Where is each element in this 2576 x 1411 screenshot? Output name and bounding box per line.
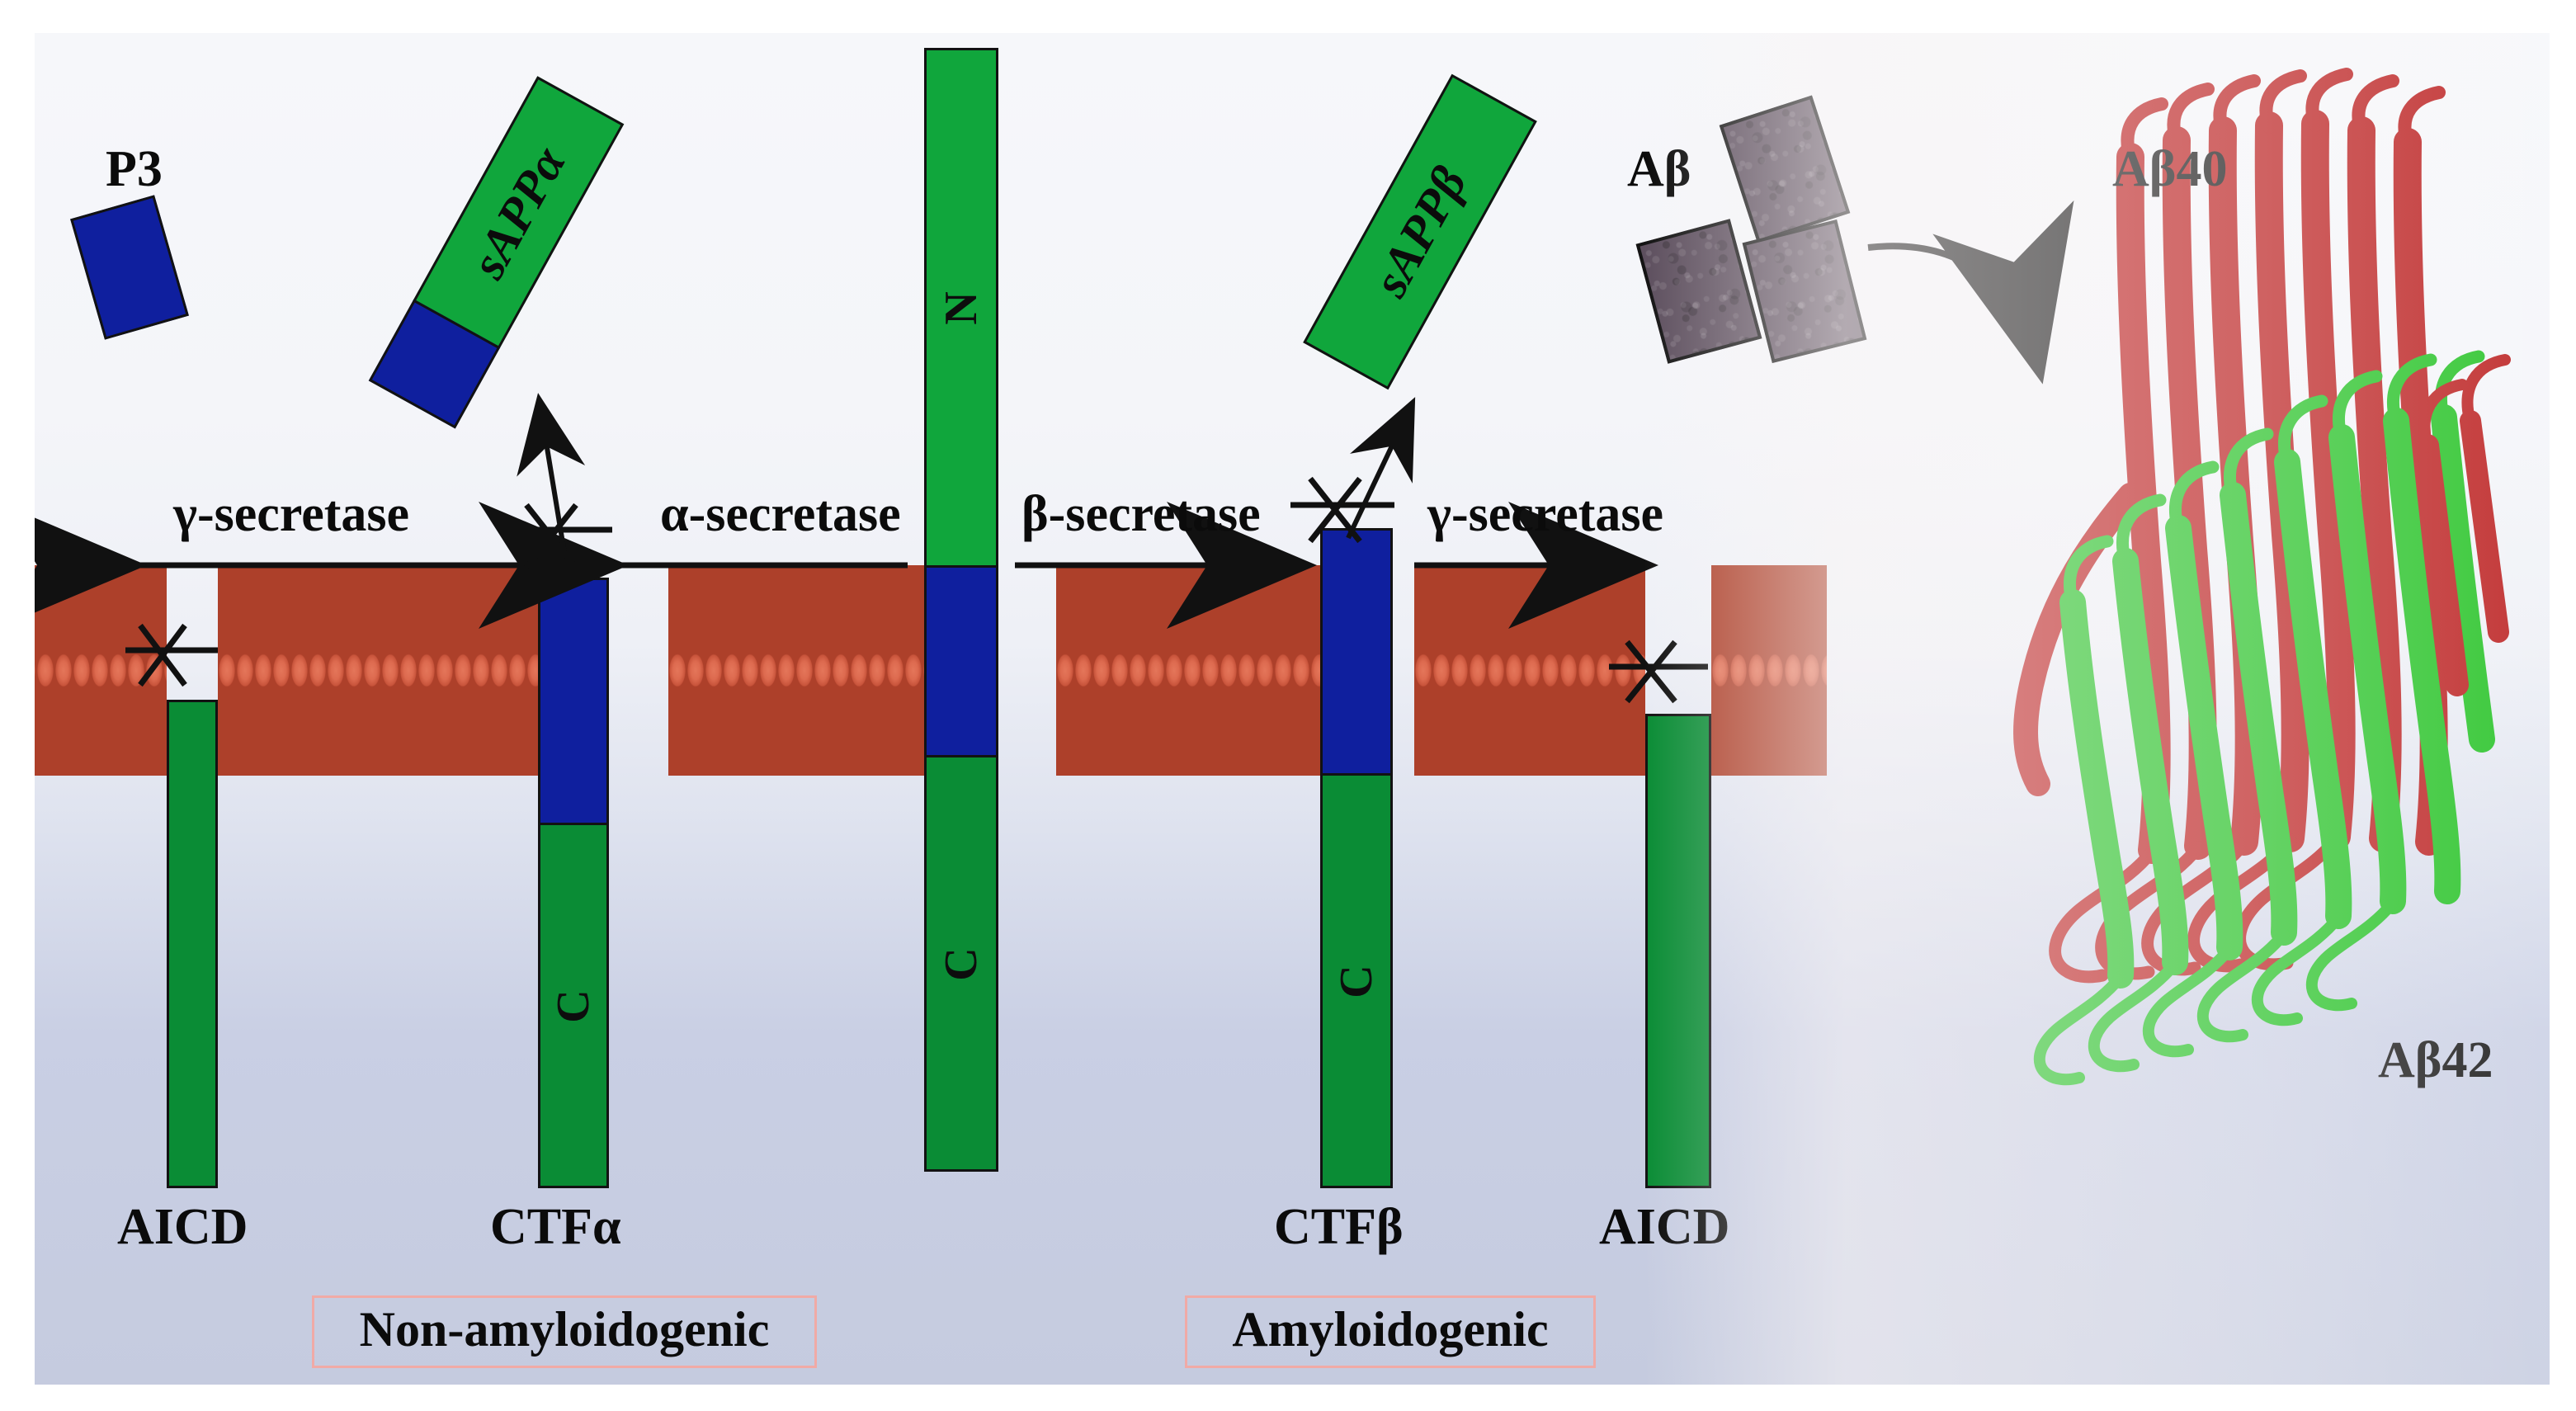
cut-mark-ctf-alpha: [507, 505, 612, 568]
sappb-pointer-arrow: [1348, 406, 1411, 538]
plaque-to-fibril-arrow: [1868, 246, 2040, 371]
ctf-alpha-c-terminus-label: C: [547, 989, 600, 1022]
sappa-pointer-arrow: [540, 403, 564, 553]
ctf-beta-c-terminus-label: C: [1330, 964, 1383, 998]
app-cytoplasmic-bar: C: [924, 755, 998, 1172]
p3-label: P3: [106, 140, 163, 199]
ab40-label: Aβ40: [2112, 140, 2227, 199]
ctf-beta-label: CTFβ: [1274, 1198, 1404, 1257]
aicd-left-bar: [167, 700, 218, 1188]
lipid-bilayer-segment-2: [218, 565, 538, 776]
sappb-ectodomain: sAPPβ: [1303, 74, 1537, 390]
sappa-group: sAPPα: [370, 76, 625, 427]
sappa-ectodomain: sAPPα: [413, 76, 624, 349]
aicd-right-bar: [1645, 714, 1711, 1188]
lipid-bilayer-segment-5: [1414, 565, 1645, 776]
beta-secretase-label: β-secretase: [1021, 485, 1261, 544]
aicd-left-label: AICD: [117, 1198, 248, 1257]
abeta-plaque-3: [1743, 219, 1867, 363]
p3-fragment: [70, 195, 189, 339]
lipid-bilayer-segment-right: [1711, 565, 1827, 776]
ctf-alpha-tm-bar: [538, 578, 609, 825]
figure-canvas-outer: C N C C sAPPα sAPPβ: [0, 0, 2576, 1411]
app-c-terminus-label: C: [935, 946, 988, 980]
abeta-plaque-2: [1636, 219, 1762, 363]
ctf-beta-tm-bar: [1320, 528, 1393, 776]
abeta-label: Aβ: [1627, 140, 1691, 199]
ctf-alpha-cyto-bar: C: [538, 823, 609, 1188]
sappb-group: sAPPβ: [1303, 74, 1537, 390]
ctf-alpha-label: CTFα: [490, 1198, 621, 1257]
ctf-beta-cyto-bar: C: [1320, 773, 1393, 1188]
app-n-terminus-label: N: [935, 290, 988, 324]
non-amyloidogenic-tag: Non-amyloidogenic: [312, 1295, 817, 1368]
figure-canvas: C N C C sAPPα sAPPβ: [35, 33, 2550, 1385]
lipid-bilayer-segment-3: [668, 565, 924, 776]
app-ectodomain-bar: N: [924, 48, 998, 568]
app-transmembrane-bar: [924, 565, 998, 757]
sappb-label: sAPPβ: [1361, 158, 1479, 306]
lipid-bilayer-segment-left: [35, 565, 167, 776]
sappa-label: sAPPα: [460, 138, 578, 288]
amyloidogenic-tag: Amyloidogenic: [1185, 1295, 1596, 1368]
lipid-bilayer-segment-4: [1056, 565, 1320, 776]
amyloid-fibril-model: [2026, 74, 2505, 1079]
gamma-secretase-left-label: γ-secretase: [173, 485, 409, 544]
aicd-right-label: AICD: [1599, 1198, 1729, 1257]
ab42-label: Aβ42: [2378, 1031, 2493, 1090]
alpha-secretase-label: α-secretase: [660, 485, 901, 544]
gamma-secretase-right-label: γ-secretase: [1427, 485, 1663, 544]
